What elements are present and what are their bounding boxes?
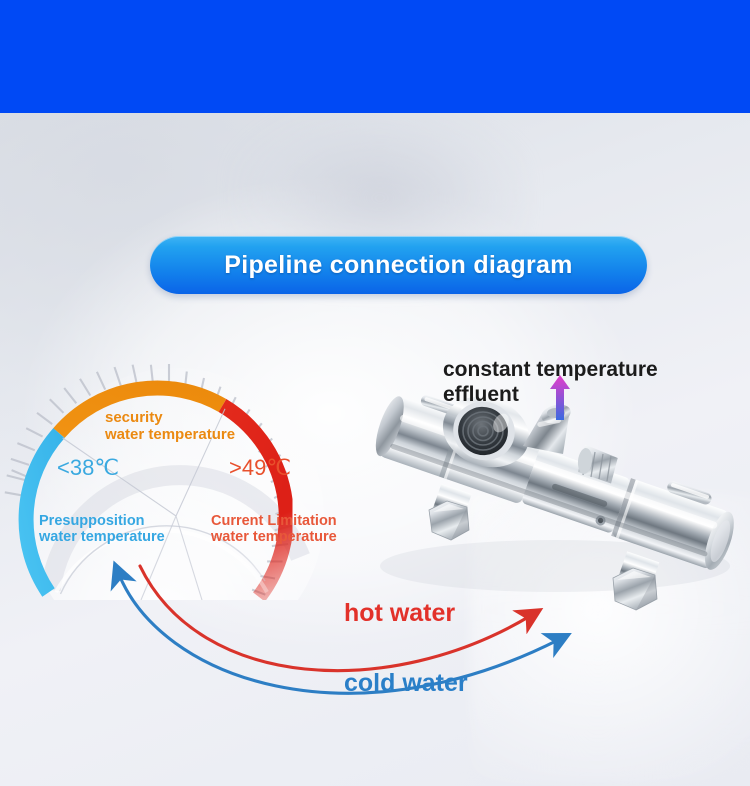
- cold-water-arrow: [118, 572, 558, 693]
- top-blue-band: [0, 0, 750, 113]
- cold-water-label: cold water: [344, 669, 468, 698]
- page-title-banner: Pipeline connection diagram: [150, 236, 647, 294]
- water-flow-arrows: [90, 540, 690, 740]
- gauge-label-security: security water temperature: [105, 410, 235, 444]
- pipeline-connection-diagram-page: Pipeline connection diagram: [0, 0, 750, 786]
- gauge-value-cold: <38℃: [57, 456, 119, 481]
- gauge-label-current-limitation-line1: Current Limitation: [211, 513, 337, 529]
- page-title: Pipeline connection diagram: [224, 251, 572, 280]
- gauge-label-security-line2: water temperature: [105, 427, 235, 444]
- hot-water-label: hot water: [344, 599, 455, 628]
- effluent-up-arrow-icon: [549, 375, 571, 420]
- gauge-value-hot: >49℃: [229, 456, 291, 481]
- hot-water-arrow: [140, 566, 530, 671]
- tap-inlet-left: [429, 484, 472, 540]
- gauge-label-presupposition-line1: Presupposition: [39, 513, 165, 529]
- gauge-label-security-line1: security: [105, 410, 235, 427]
